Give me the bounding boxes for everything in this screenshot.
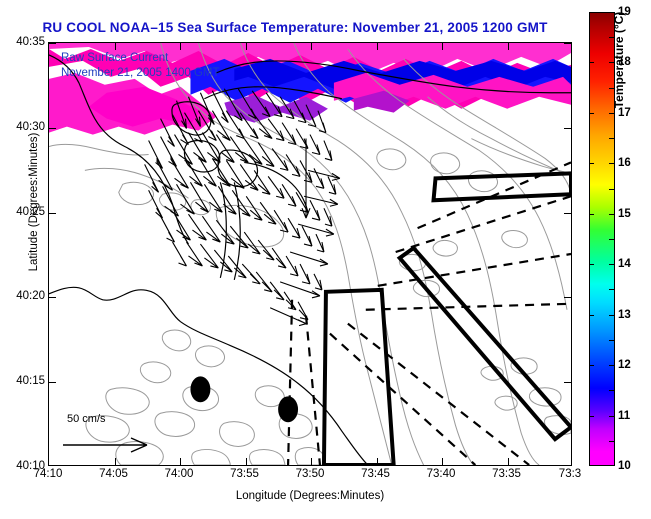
annotation-line-2: November 21, 2005 1400 GMT: [61, 66, 220, 81]
station-marker[interactable]: [190, 376, 210, 402]
y-tick-label: 40:35: [16, 36, 45, 48]
vector-scale-label: 50 cm/s: [67, 413, 106, 425]
map-plot-area[interactable]: Raw Surface Current November 21, 2005 14…: [48, 42, 572, 466]
dashed-transect-lines: [288, 162, 571, 465]
vector-scale-arrow-icon: [59, 431, 169, 461]
x-tick-label: 73:50: [296, 468, 325, 480]
colorbar-tick-label: 12: [618, 359, 631, 371]
figure-title: RU COOL NOAA–15 Sea Surface Temperature:…: [0, 20, 590, 35]
x-tick-label: 74:00: [165, 468, 194, 480]
station-markers[interactable]: [190, 376, 298, 422]
colorbar-tick-label: 16: [618, 157, 631, 169]
x-tick-label: 73:45: [361, 468, 390, 480]
x-tick-label: 73:3: [559, 468, 581, 480]
colorbar-tick-label: 10: [618, 460, 631, 472]
colorbar-tick-label: 11: [618, 410, 630, 422]
y-axis-label: Latitude (Degrees:Minutes): [28, 112, 40, 292]
thick-lane-polygons: [324, 173, 571, 465]
x-tick-label: 74:05: [99, 468, 128, 480]
x-tick-label: 73:40: [427, 468, 456, 480]
vector-scale-legend: 50 cm/s: [59, 413, 169, 459]
y-tick-label: 40:20: [16, 290, 45, 302]
x-tick-label: 73:55: [230, 468, 259, 480]
x-axis-tick-labels: 74:10 74:05 74:00 73:55 73:50 73:45 73:4…: [48, 468, 572, 484]
colorbar-tick-label: 13: [618, 309, 631, 321]
x-tick-label: 73:35: [492, 468, 521, 480]
colorbar-title: Temperature (°C): [612, 0, 626, 150]
colorbar-tick-label: 14: [618, 258, 631, 270]
x-axis-label: Longitude (Degrees:Minutes): [48, 490, 572, 502]
annotation-line-1: Raw Surface Current: [61, 51, 220, 66]
raw-current-annotation: Raw Surface Current November 21, 2005 14…: [61, 51, 220, 81]
station-marker[interactable]: [278, 396, 298, 422]
x-tick-label: 74:10: [34, 468, 63, 480]
sst-map-figure: RU COOL NOAA–15 Sea Surface Temperature:…: [0, 0, 651, 519]
colorbar-tick-label: 15: [618, 208, 631, 220]
y-tick-label: 40:15: [16, 375, 45, 387]
map-canvas: [49, 43, 571, 465]
